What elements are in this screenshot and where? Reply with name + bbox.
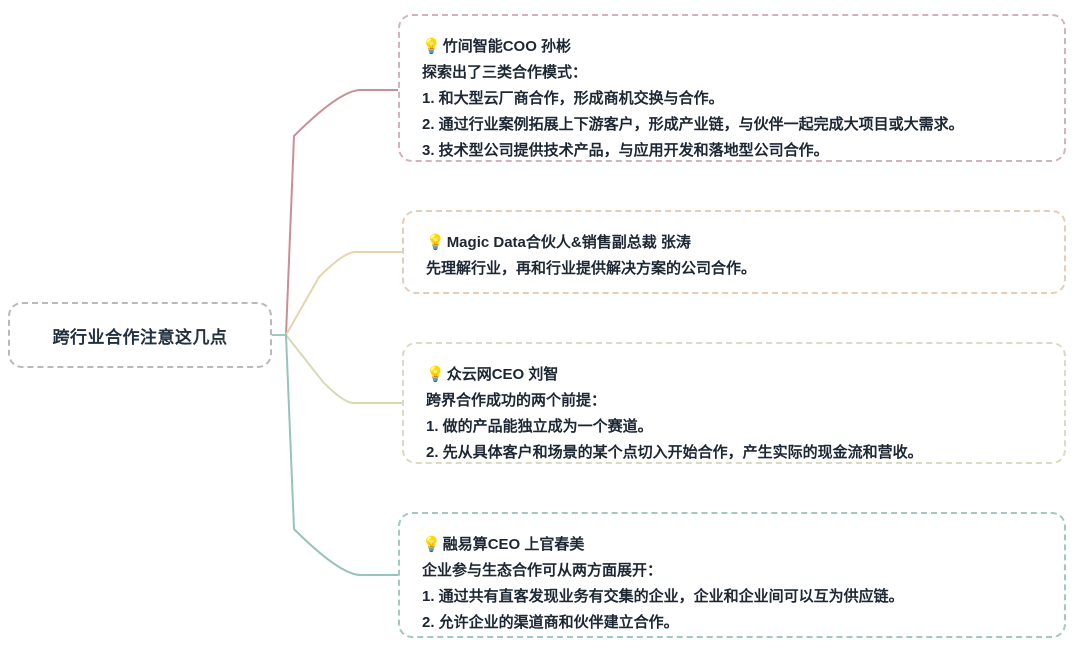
- branch-body-line: 2. 先从具体客户和场景的某个点切入开始合作，产生实际的现金流和营收。: [426, 440, 1044, 466]
- branch-heading: 💡 融易算CEO 上官春美: [422, 532, 1044, 558]
- branch-box-3[interactable]: 💡 众云网CEO 刘智 跨界合作成功的两个前提： 1. 做的产品能独立成为一个赛…: [402, 342, 1066, 464]
- branch-body-line: 2. 通过行业案例拓展上下游客户，形成产业链，与伙伴一起完成大项目或大需求。: [422, 112, 1044, 138]
- branch-heading-text: 融易算CEO 上官春美: [443, 532, 585, 558]
- branch-body-line: 3. 技术型公司提供技术产品，与应用开发和落地型公司合作。: [422, 138, 1044, 164]
- branch-heading-text: 竹间智能COO 孙彬: [443, 34, 571, 60]
- branch-body-line: 探索出了三类合作模式：: [422, 60, 1044, 86]
- branch-body-line: 跨界合作成功的两个前提：: [426, 388, 1044, 414]
- branch-heading: 💡 众云网CEO 刘智: [426, 362, 1044, 388]
- connector-path: [286, 335, 398, 575]
- branch-heading: 💡 竹间智能COO 孙彬: [422, 34, 1044, 60]
- connector-path: [286, 335, 402, 403]
- lightbulb-icon: 💡: [422, 532, 441, 558]
- root-node[interactable]: 跨行业合作注意这几点: [8, 302, 272, 368]
- lightbulb-icon: 💡: [422, 34, 441, 60]
- connector-path: [286, 90, 398, 335]
- branch-box-1[interactable]: 💡 竹间智能COO 孙彬 探索出了三类合作模式： 1. 和大型云厂商合作，形成商…: [398, 14, 1066, 162]
- branch-body-line: 2. 允许企业的渠道商和伙伴建立合作。: [422, 610, 1044, 636]
- connector-path: [286, 252, 402, 335]
- branch-body-line: 企业参与生态合作可从两方面展开：: [422, 558, 1044, 584]
- mindmap-canvas: 跨行业合作注意这几点 💡 竹间智能COO 孙彬 探索出了三类合作模式： 1. 和…: [0, 0, 1080, 648]
- branch-heading-text: Magic Data合伙人&销售副总裁 张涛: [447, 230, 691, 256]
- branch-body-line: 1. 通过共有直客发现业务有交集的企业，企业和企业间可以互为供应链。: [422, 584, 1044, 610]
- branch-heading-text: 众云网CEO 刘智: [447, 362, 559, 388]
- root-node-label: 跨行业合作注意这几点: [53, 323, 228, 348]
- branch-box-4[interactable]: 💡 融易算CEO 上官春美 企业参与生态合作可从两方面展开： 1. 通过共有直客…: [398, 512, 1066, 638]
- branch-body-line: 1. 做的产品能独立成为一个赛道。: [426, 414, 1044, 440]
- branch-heading: 💡 Magic Data合伙人&销售副总裁 张涛: [426, 230, 1044, 256]
- branch-body-line: 先理解行业，再和行业提供解决方案的公司合作。: [426, 256, 1044, 282]
- branch-box-2[interactable]: 💡 Magic Data合伙人&销售副总裁 张涛 先理解行业，再和行业提供解决方…: [402, 210, 1066, 294]
- branch-body-line: 1. 和大型云厂商合作，形成商机交换与合作。: [422, 86, 1044, 112]
- lightbulb-icon: 💡: [426, 362, 445, 388]
- lightbulb-icon: 💡: [426, 230, 445, 256]
